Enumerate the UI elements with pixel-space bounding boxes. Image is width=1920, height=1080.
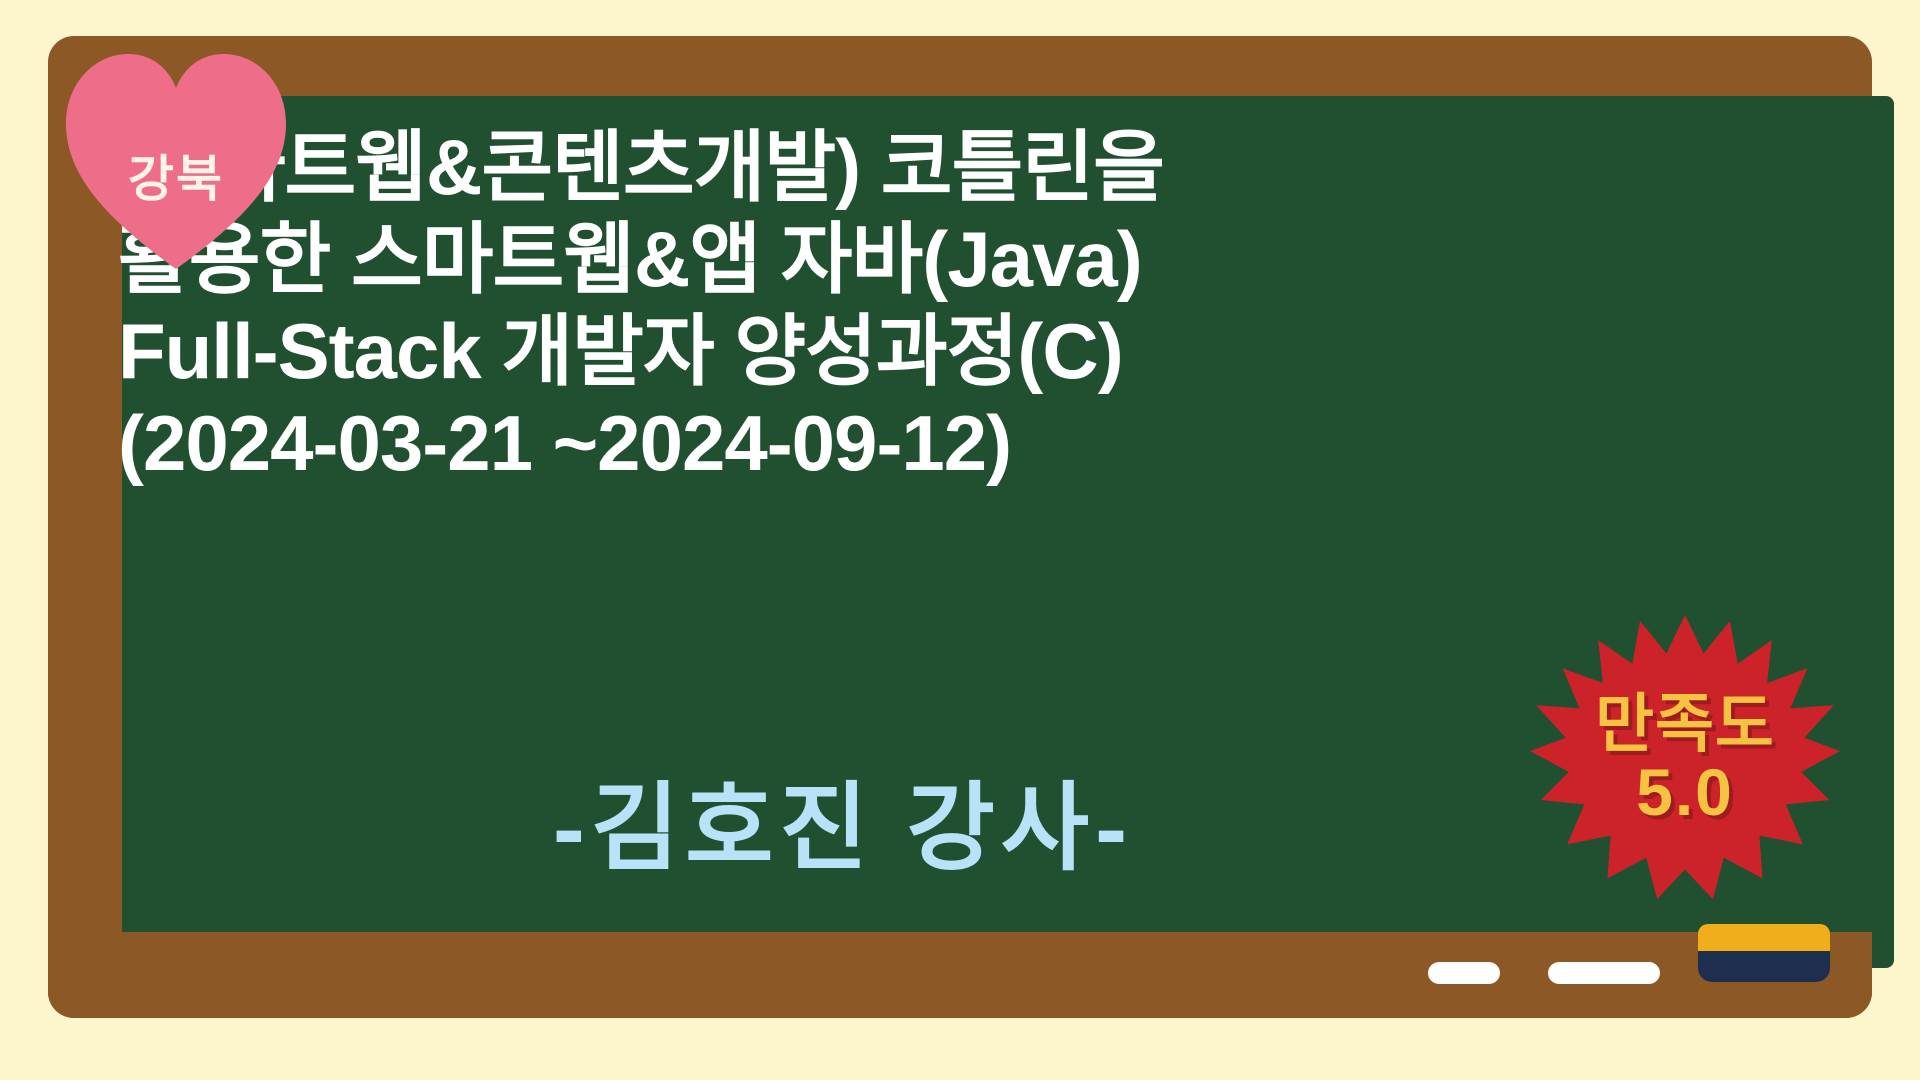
thumbnail-canvas: 강북 (스마트웹&콘텐츠개발) 코틀린을 활용한 스마트웹&앱 자바(Java)… — [0, 0, 1920, 1080]
eraser-top-felt — [1698, 924, 1830, 951]
course-period-line: (2024-03-21 ~2024-09-12) — [118, 404, 1618, 482]
satisfaction-score: 5.0 — [1636, 758, 1734, 827]
course-title-block: (스마트웹&콘텐츠개발) 코틀린을 활용한 스마트웹&앱 자바(Java) Fu… — [118, 128, 1618, 496]
chalk-stick-1 — [1428, 962, 1500, 984]
region-heart-badge: 강북 — [60, 44, 292, 272]
course-title-line-3: Full-Stack 개발자 양성과정(C) — [118, 312, 1618, 390]
course-title-line-2: 활용한 스마트웹&앱 자바(Java) — [118, 220, 1618, 298]
eraser-body — [1698, 951, 1830, 982]
satisfaction-badge-text: 만족도 5.0 — [1530, 612, 1840, 908]
region-badge-label: 강북 — [60, 44, 292, 272]
satisfaction-label: 만족도 — [1595, 692, 1775, 756]
course-title-line-1: (스마트웹&콘텐츠개발) 코틀린을 — [118, 128, 1618, 206]
board-eraser — [1698, 924, 1830, 982]
satisfaction-badge: 만족도 5.0 — [1530, 612, 1840, 908]
instructor-name: -김호진 강사- — [118, 750, 1568, 889]
chalk-stick-2 — [1548, 962, 1660, 984]
